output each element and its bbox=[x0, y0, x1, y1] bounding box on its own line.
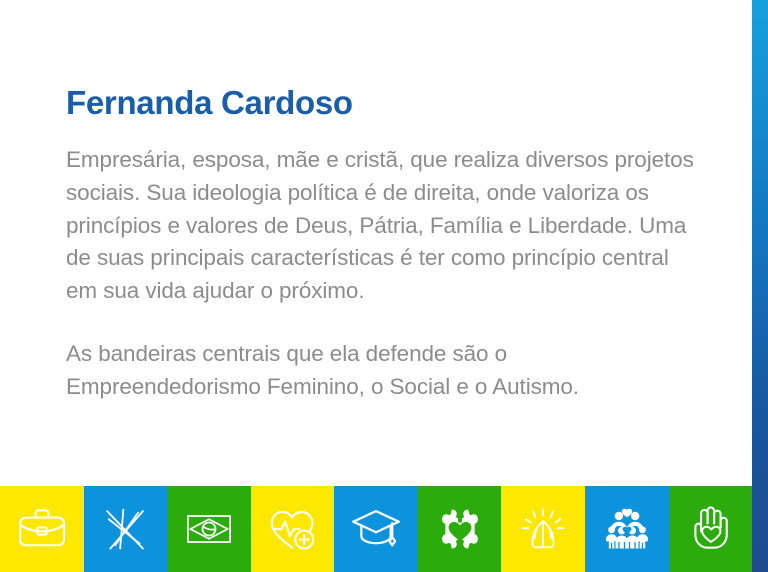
page-title: Fernanda Cardoso bbox=[66, 84, 696, 122]
bio-paragraph-primary: Empresária, esposa, mãe e cristã, que re… bbox=[66, 144, 696, 308]
icon-tile-crossed-needles[interactable] bbox=[84, 486, 168, 572]
icon-tile-briefcase[interactable] bbox=[0, 486, 84, 572]
text-content-block: Fernanda Cardoso Empresária, esposa, mãe… bbox=[66, 84, 696, 404]
bio-paragraph-secondary: As bandeiras centrais que ela defende sã… bbox=[66, 338, 696, 404]
icon-tile-graduation-cap[interactable] bbox=[334, 486, 418, 572]
icon-tile-brazil-flag[interactable] bbox=[167, 486, 251, 572]
hand-heart-icon bbox=[684, 503, 736, 555]
heart-pulse-plus-icon bbox=[266, 503, 318, 555]
icon-tile-puzzle-heart[interactable] bbox=[418, 486, 502, 572]
puzzle-heart-icon bbox=[434, 503, 486, 555]
right-gradient-bar bbox=[752, 0, 768, 572]
praying-hands-icon bbox=[517, 503, 569, 555]
icon-tile-hand-heart[interactable] bbox=[669, 486, 753, 572]
icon-tile-heart-pulse[interactable] bbox=[251, 486, 335, 572]
slide-canvas: Fernanda Cardoso Empresária, esposa, mãe… bbox=[0, 0, 768, 572]
brazil-flag-icon bbox=[183, 503, 235, 555]
family-group-icon bbox=[601, 503, 653, 555]
crossed-needles-icon bbox=[99, 503, 151, 555]
icon-tile-praying-hands[interactable] bbox=[501, 486, 585, 572]
icon-tile-family-group[interactable] bbox=[585, 486, 669, 572]
graduation-cap-icon bbox=[350, 503, 402, 555]
icon-strip bbox=[0, 486, 752, 572]
briefcase-icon bbox=[16, 503, 68, 555]
